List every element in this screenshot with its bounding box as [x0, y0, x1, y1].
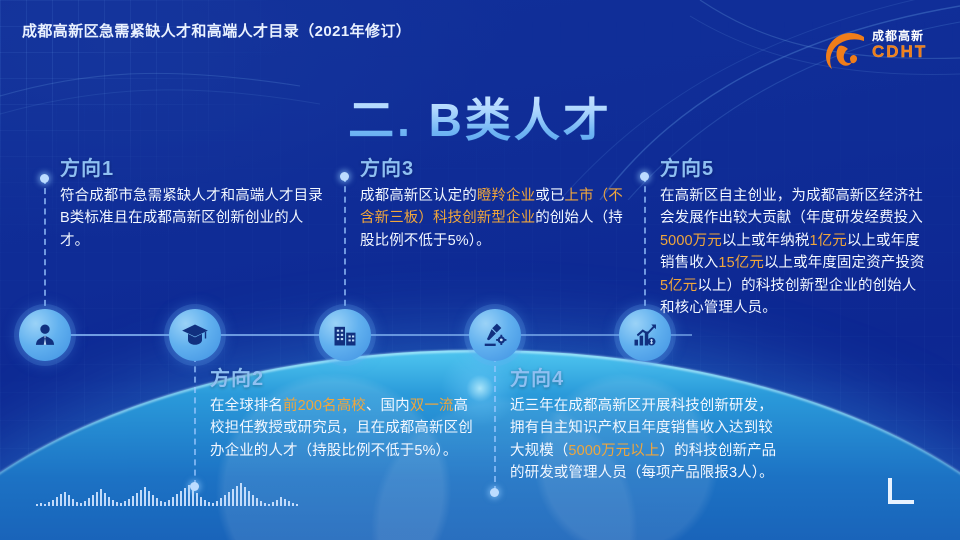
- timeline-node-3[interactable]: [319, 309, 371, 361]
- direction-block-3: 方向3 成都高新区认定的瞪羚企业或已上市（不含新三板）科技创新型企业的创始人（持…: [360, 152, 632, 252]
- direction-heading-4: 方向4: [510, 362, 782, 391]
- office-buildings-icon: [331, 321, 359, 349]
- direction-body-5: 在高新区自主创业，为成都高新区经济社会发展作出较大贡献（年度研发经费投入5000…: [660, 185, 928, 320]
- microscope-gear-icon: [481, 321, 509, 349]
- direction-heading-2: 方向2: [210, 362, 478, 391]
- audio-waveform-icon: [36, 480, 298, 506]
- body-text: 、国内: [366, 398, 410, 414]
- highlighted-text: 15亿元: [718, 255, 764, 271]
- connector-dot-1: [40, 174, 49, 183]
- connector-dot-2: [190, 482, 199, 491]
- connector-stem-2: [194, 356, 196, 486]
- connector-stem-5: [644, 176, 646, 316]
- body-text: 在高新区自主创业，为成都高新区经济社会发展作出较大贡献（年度研发经费投入: [660, 188, 923, 226]
- section-title: 二. B类人才: [0, 84, 960, 150]
- connector-dot-5: [640, 172, 649, 181]
- direction-block-1: 方向1 符合成都市急需紧缺人才和高端人才目录B类标准且在成都高新区创新创业的人才…: [60, 152, 330, 252]
- connector-stem-1: [44, 178, 46, 316]
- connector-stem-3: [344, 176, 346, 316]
- person-suit-icon: [31, 321, 59, 349]
- highlighted-text: 5亿元: [660, 278, 697, 294]
- highlighted-text: 5000万元: [660, 233, 722, 249]
- direction-block-2: 方向2 在全球排名前200名高校、国内双一流高校担任教授或研究员，且在成都高新区…: [210, 362, 478, 462]
- body-text: 以上或年纳税: [722, 233, 810, 249]
- cdht-logo: 成都高新 CDHT: [818, 22, 942, 78]
- swoosh-icon: [820, 24, 870, 74]
- direction-body-2: 在全球排名前200名高校、国内双一流高校担任教授或研究员，且在成都高新区创办企业…: [210, 395, 478, 462]
- direction-body-1: 符合成都市急需紧缺人才和高端人才目录B类标准且在成都高新区创新创业的人才。: [60, 185, 330, 252]
- highlighted-text: 前200名高校: [283, 398, 366, 414]
- connector-dot-3: [340, 172, 349, 181]
- highlighted-text: 1亿元: [809, 233, 846, 249]
- connector-dot-4: [490, 488, 499, 497]
- direction-heading-3: 方向3: [360, 152, 632, 181]
- direction-block-5: 方向5 在高新区自主创业，为成都高新区经济社会发展作出较大贡献（年度研发经费投入…: [660, 152, 928, 320]
- body-text: 以上或年度固定资产投资: [764, 255, 925, 271]
- direction-body-3: 成都高新区认定的瞪羚企业或已上市（不含新三板）科技创新型企业的创始人（持股比例不…: [360, 185, 632, 252]
- direction-body-4: 近三年在成都高新区开展科技创新研发，拥有自主知识产权且年度销售收入达到较大规模（…: [510, 395, 782, 485]
- direction-heading-5: 方向5: [660, 152, 928, 181]
- body-text: 或已: [535, 188, 564, 204]
- highlighted-text: 5000万元以上: [568, 443, 659, 459]
- highlighted-text: 双一流: [410, 398, 454, 414]
- body-text: 符合成都市急需紧缺人才和高端人才目录B类标准且在成都高新区创新创业的人才。: [60, 188, 323, 249]
- direction-heading-1: 方向1: [60, 152, 330, 181]
- logo-text-en: CDHT: [872, 43, 927, 62]
- corner-bracket-icon: [888, 478, 914, 504]
- timeline-node-2[interactable]: [169, 309, 221, 361]
- body-text: 成都高新区认定的: [360, 188, 477, 204]
- direction-block-4: 方向4 近三年在成都高新区开展科技创新研发，拥有自主知识产权且年度销售收入达到较…: [510, 362, 782, 485]
- timeline-node-1[interactable]: [19, 309, 71, 361]
- timeline-node-4[interactable]: [469, 309, 521, 361]
- highlighted-text: 瞪羚企业: [477, 188, 535, 204]
- body-text: 在全球排名: [210, 398, 283, 414]
- page-title: 成都高新区急需紧缺人才和高端人才目录（2021年修订）: [22, 20, 411, 41]
- graduation-cap-icon: [181, 321, 209, 349]
- body-text: 以上）的科技创新型企业的创始人和核心管理人员。: [660, 278, 916, 316]
- growth-chart-icon: [631, 321, 659, 349]
- infographic-canvas: 成都高新区急需紧缺人才和高端人才目录（2021年修订） 成都高新 CDHT 二.…: [0, 0, 960, 540]
- connector-stem-4: [494, 356, 496, 492]
